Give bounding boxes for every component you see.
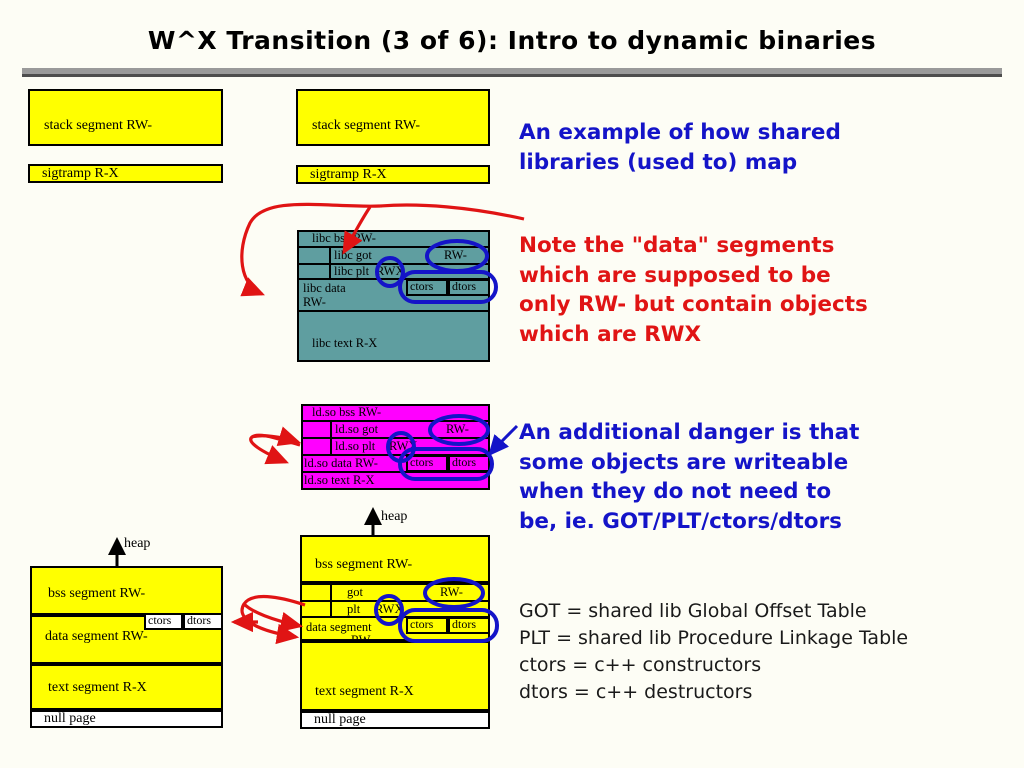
- left-sigtramp-label: sigtramp R-X: [42, 166, 119, 181]
- left-dtors-label: dtors: [187, 614, 211, 627]
- left-null-page-label: null page: [44, 711, 96, 726]
- mid-ctors-label: ctors: [410, 618, 433, 631]
- slide-canvas: W^X Transition (3 of 6): Intro to dynami…: [0, 0, 1024, 768]
- mid-heap-label: heap: [381, 509, 407, 524]
- ldso-got-left-edge: [330, 420, 332, 454]
- left-heap-label: heap: [124, 536, 150, 551]
- libc-data-perm-label: RW-: [303, 296, 326, 310]
- libc-data-divider: [299, 310, 488, 312]
- note-additional-danger: An additional danger is that some object…: [519, 418, 999, 537]
- ldso-data-label: ld.so data RW-: [304, 457, 378, 471]
- ldso-callout-arrows: [251, 435, 300, 462]
- ldso-text-label: ld.so text R-X: [304, 474, 374, 488]
- libc-got-label: libc got: [334, 249, 372, 263]
- left-ctors-label: ctors: [148, 614, 171, 627]
- ldso-ctors-label: ctors: [410, 456, 433, 469]
- ldso-rw-tag-label: RW-: [446, 423, 469, 437]
- mid-plt-label: plt: [347, 603, 360, 617]
- left-text-segment-label: text segment R-X: [48, 680, 147, 695]
- libc-data-label: libc data: [303, 282, 346, 296]
- mid-text-segment-label: text segment R-X: [315, 684, 414, 699]
- left-stack-segment-label: stack segment RW-: [44, 118, 152, 133]
- ldso-got-label: ld.so got: [335, 423, 378, 437]
- libc-bss-label: libc bss RW-: [312, 232, 376, 246]
- ldso-plt-label: ld.so plt: [335, 440, 375, 454]
- mid-null-page-label: null page: [314, 712, 366, 727]
- mid-sigtramp-label: sigtramp R-X: [310, 167, 387, 182]
- program-callout-arrows: [242, 597, 305, 637]
- note-shared-libs: An example of how shared libraries (used…: [519, 118, 989, 177]
- ldso-danger-arrow: [490, 426, 517, 454]
- note-data-segments: Note the "data" segments which are suppo…: [519, 231, 999, 350]
- mid-plt-perm-label: RWX: [375, 603, 403, 617]
- mid-rw-tag-label: RW-: [440, 586, 463, 600]
- ldso-bss-label: ld.so bss RW-: [312, 406, 381, 420]
- page-title: W^X Transition (3 of 6): Intro to dynami…: [0, 26, 1024, 55]
- mid-stack-segment-label: stack segment RW-: [312, 118, 420, 133]
- libc-dtors-label: dtors: [452, 280, 476, 293]
- libc-text-label: libc text R-X: [312, 337, 377, 351]
- libc-plt-perm-label: RWX: [376, 265, 404, 279]
- mid-bss-segment-label: bss segment RW-: [315, 557, 412, 572]
- title-divider: [22, 68, 1002, 77]
- libc-rw-tag-label: RW-: [444, 249, 467, 263]
- libc-got-left-edge: [329, 246, 331, 280]
- mid-dtors-label: dtors: [452, 618, 476, 631]
- libc-ctors-label: ctors: [410, 280, 433, 293]
- legend-glossary: GOT = shared lib Global Offset Table PLT…: [519, 598, 999, 706]
- ldso-plt-perm-label: RWX: [389, 440, 417, 454]
- left-bss-segment-label: bss segment RW-: [48, 586, 145, 601]
- mid-got-left-edge: [330, 585, 332, 618]
- left-data-segment-label: data segment RW-: [45, 629, 148, 644]
- ldso-dtors-label: dtors: [452, 456, 476, 469]
- libc-plt-label: libc plt: [334, 265, 369, 279]
- mid-text-segment-box: [300, 641, 490, 711]
- mid-got-label: got: [347, 586, 363, 600]
